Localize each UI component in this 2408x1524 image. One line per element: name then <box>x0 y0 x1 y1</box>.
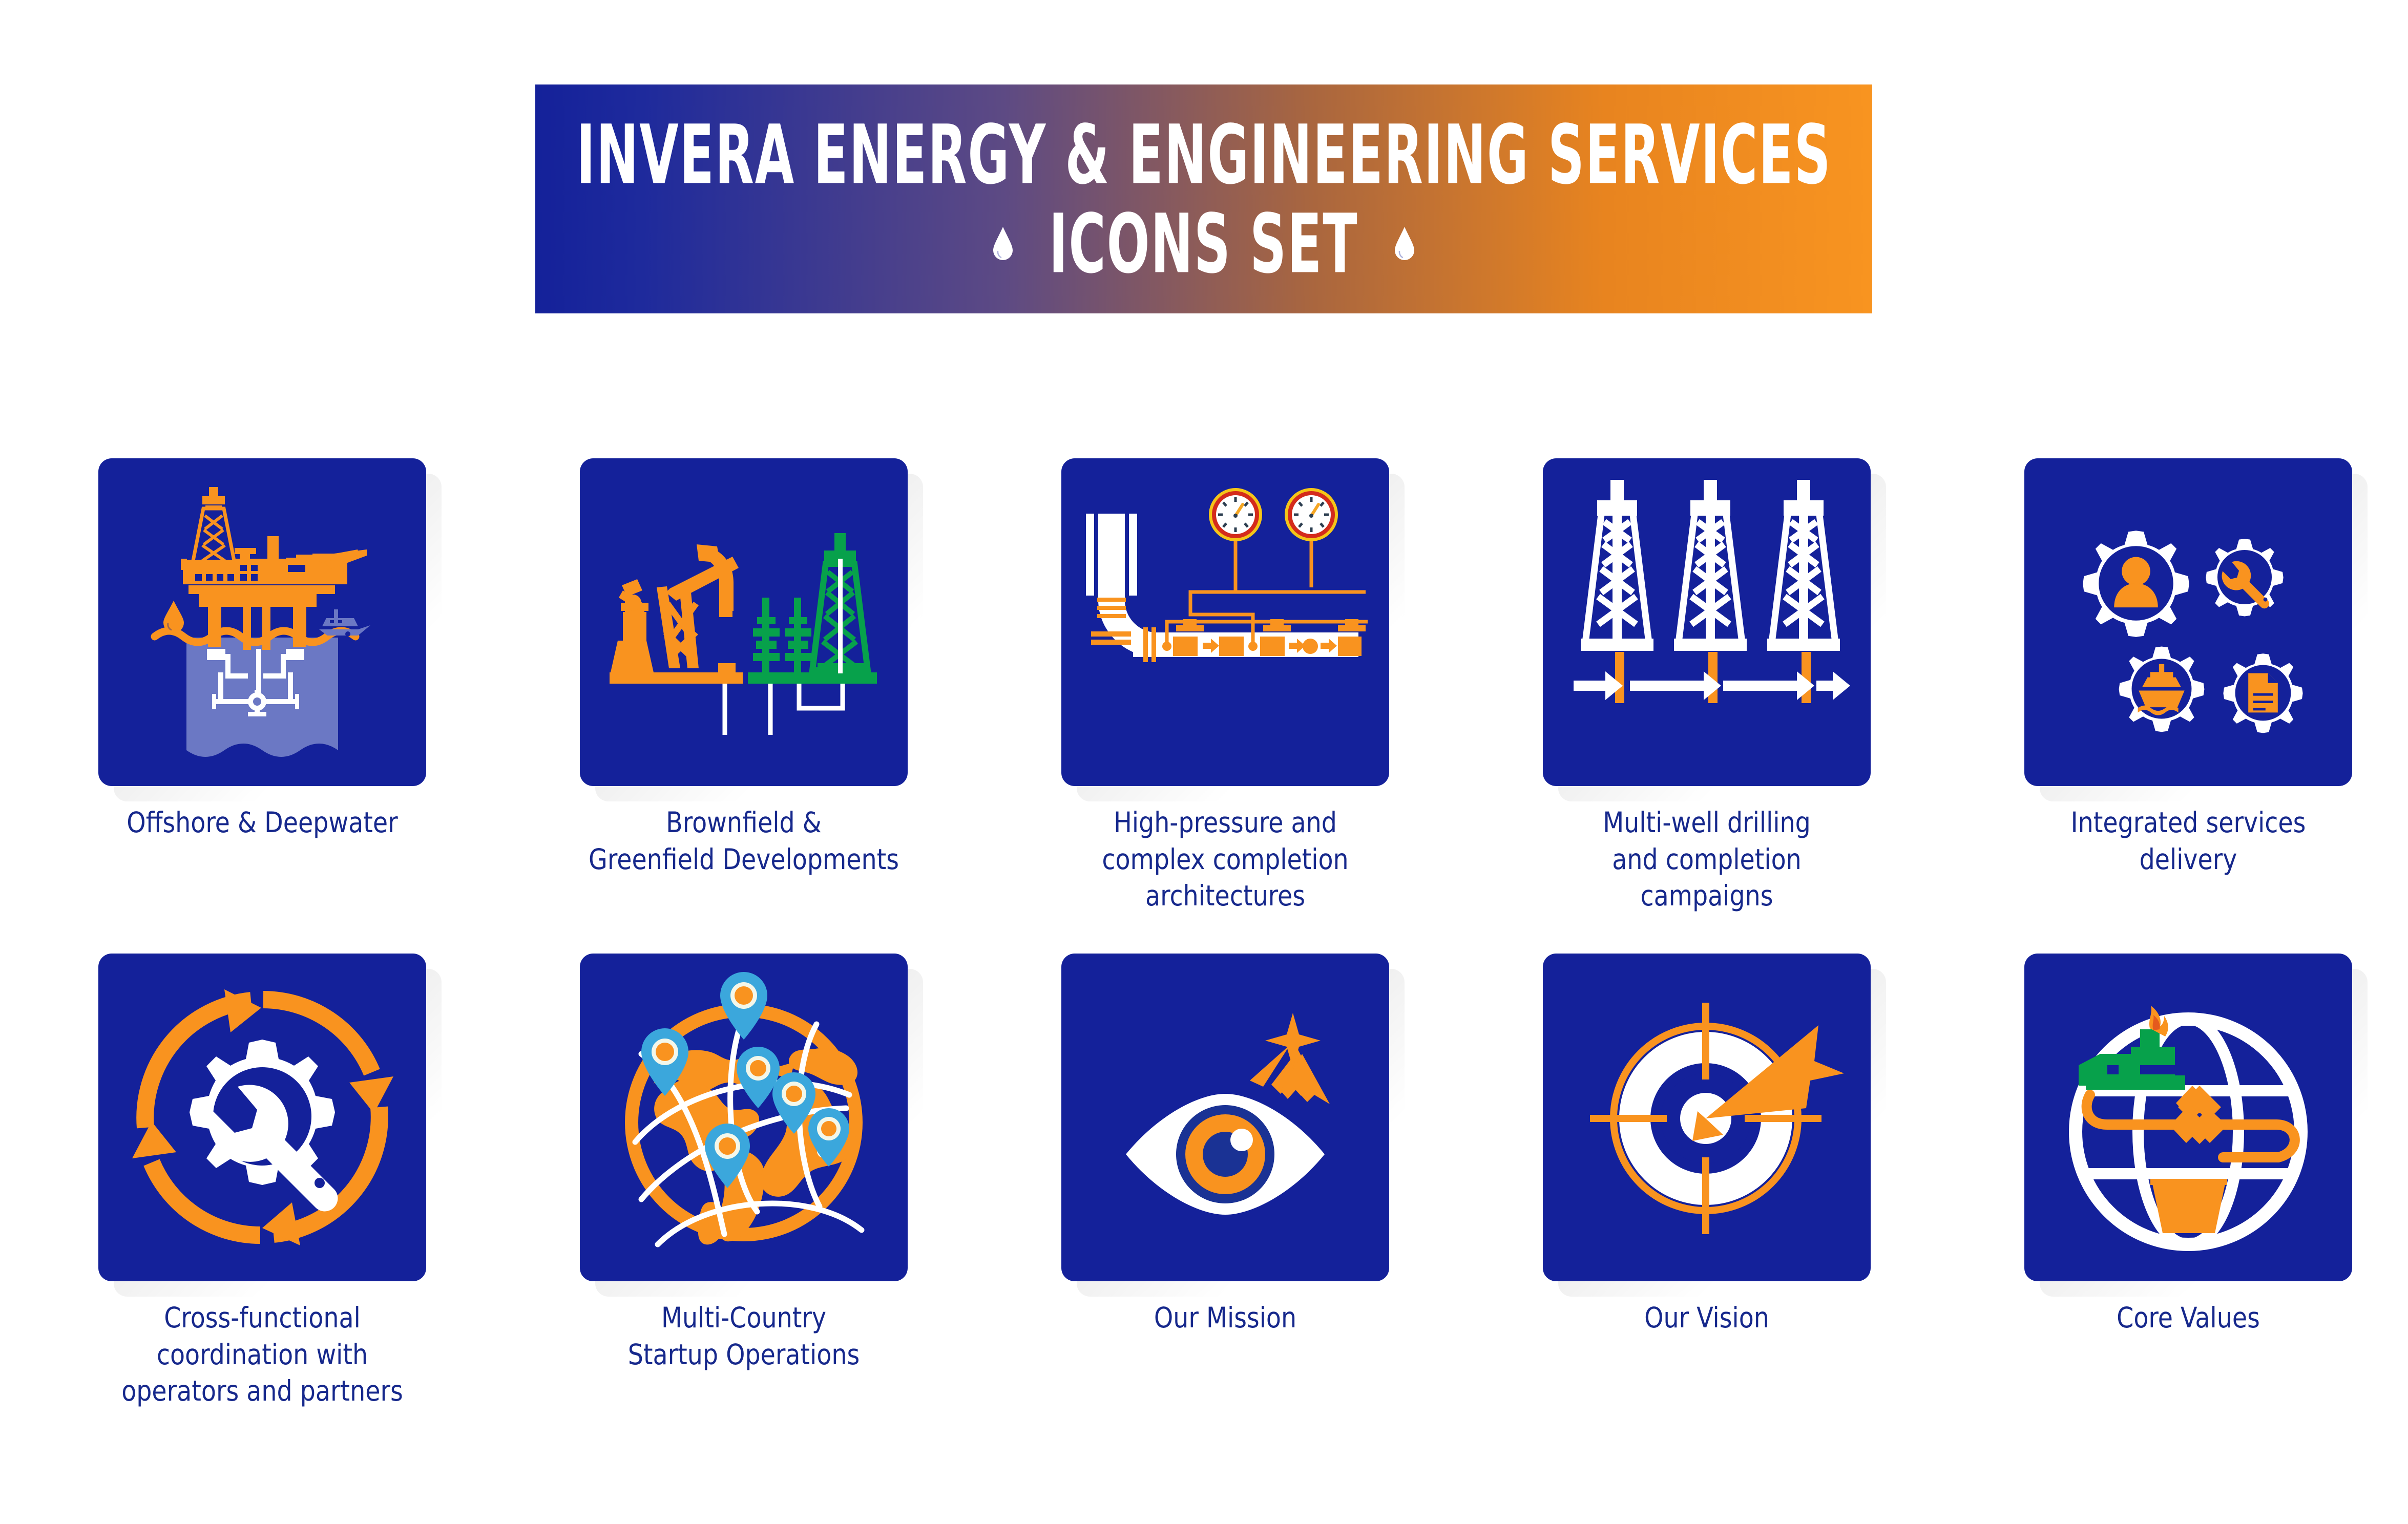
four-gears-services-icon <box>2024 458 2352 786</box>
icon-tile[interactable] <box>580 954 908 1281</box>
icon-tile[interactable] <box>1061 954 1389 1281</box>
icon-card-core-values[interactable]: Core Values <box>1994 954 2383 1337</box>
icon-tile[interactable] <box>1543 458 1871 786</box>
card-caption: Our Vision <box>1520 1300 1894 1337</box>
caption-line: Brownfield & <box>557 805 931 841</box>
card-caption: Cross-functional coordination with opera… <box>75 1300 449 1410</box>
gear-wrench-cycle-icon <box>98 954 426 1281</box>
card-caption: Offshore & Deepwater <box>75 805 449 841</box>
caption-line: Multi-well drilling <box>1520 805 1894 841</box>
card-caption: Multi-Country Startup Operations <box>557 1300 931 1373</box>
caption-line: and completion <box>1520 841 1894 878</box>
page-title: INVERA ENERGY & ENGINEERING SERVICES <box>576 114 1831 195</box>
caption-line: Our Mission <box>1038 1300 1412 1337</box>
icon-tile[interactable] <box>98 954 426 1281</box>
icon-set-poster: INVERA ENERGY & ENGINEERING SERVICES ICO… <box>0 0 2408 1524</box>
caption-line: Cross-functional <box>75 1300 449 1337</box>
card-caption: Our Mission <box>1038 1300 1412 1337</box>
icon-card-multi-country[interactable]: Multi-Country Startup Operations <box>549 954 938 1373</box>
caption-line: Core Values <box>2001 1300 2375 1337</box>
caption-line: campaigns <box>1520 878 1894 915</box>
icon-card-our-vision[interactable]: Our Vision <box>1512 954 1901 1337</box>
icon-card-cross-functional[interactable]: Cross-functional coordination with opera… <box>68 954 457 1410</box>
header-banner: INVERA ENERGY & ENGINEERING SERVICES ICO… <box>535 84 1872 313</box>
caption-line: Offshore & Deepwater <box>75 805 449 841</box>
eye-mountain-star-icon <box>1061 954 1389 1281</box>
card-caption: Core Values <box>2001 1300 2375 1337</box>
icon-card-multi-well[interactable]: Multi-well drilling and completion campa… <box>1512 458 1901 915</box>
caption-line: Startup Operations <box>557 1337 931 1373</box>
three-derricks-arrows-icon <box>1543 458 1871 786</box>
pumpjack-derrick-icon <box>580 458 908 786</box>
icon-tile[interactable] <box>2024 954 2352 1281</box>
water-drop-icon <box>991 227 1015 261</box>
card-caption: Multi-well drilling and completion campa… <box>1520 805 1894 915</box>
card-caption: Integrated services delivery <box>2001 805 2375 878</box>
pipeline-pressure-gauges-icon <box>1061 458 1389 786</box>
page-subtitle: ICONS SET <box>1049 203 1358 284</box>
pressure-gauge-right <box>1285 488 1338 541</box>
globe-map-pins-icon <box>580 954 908 1281</box>
offshore-platform-icon <box>98 458 426 786</box>
water-drop-icon <box>1393 227 1416 261</box>
icon-card-integrated-services[interactable]: Integrated services delivery <box>1994 458 2383 878</box>
icon-tile[interactable] <box>580 458 908 786</box>
icon-card-our-mission[interactable]: Our Mission <box>1031 954 1420 1337</box>
icon-card-offshore[interactable]: Offshore & Deepwater <box>68 458 457 841</box>
icon-card-high-pressure[interactable]: High-pressure and complex completion arc… <box>1031 458 1420 915</box>
icon-tile[interactable] <box>1543 954 1871 1281</box>
caption-line: architectures <box>1038 878 1412 915</box>
caption-line: delivery <box>2001 841 2375 878</box>
target-arrow-icon <box>1543 954 1871 1281</box>
subtitle-row: ICONS SET <box>991 214 1416 274</box>
icon-tile[interactable] <box>2024 458 2352 786</box>
icon-tile[interactable] <box>98 458 426 786</box>
card-caption: Brownfield & Greenfield Developments <box>557 805 931 878</box>
pressure-gauge-left <box>1209 488 1262 541</box>
globe-refinery-tank-icon <box>2024 954 2352 1281</box>
icon-tile[interactable] <box>1061 458 1389 786</box>
card-caption: High-pressure and complex completion arc… <box>1038 805 1412 915</box>
caption-line: High-pressure and <box>1038 805 1412 841</box>
caption-line: complex completion <box>1038 841 1412 878</box>
caption-line: operators and partners <box>75 1373 449 1410</box>
caption-line: coordination with <box>75 1337 449 1373</box>
caption-line: Our Vision <box>1520 1300 1894 1337</box>
icon-card-brownfield-greenfield[interactable]: Brownfield & Greenfield Developments <box>549 458 938 878</box>
caption-line: Multi-Country <box>557 1300 931 1337</box>
caption-line: Greenfield Developments <box>557 841 931 878</box>
caption-line: Integrated services <box>2001 805 2375 841</box>
